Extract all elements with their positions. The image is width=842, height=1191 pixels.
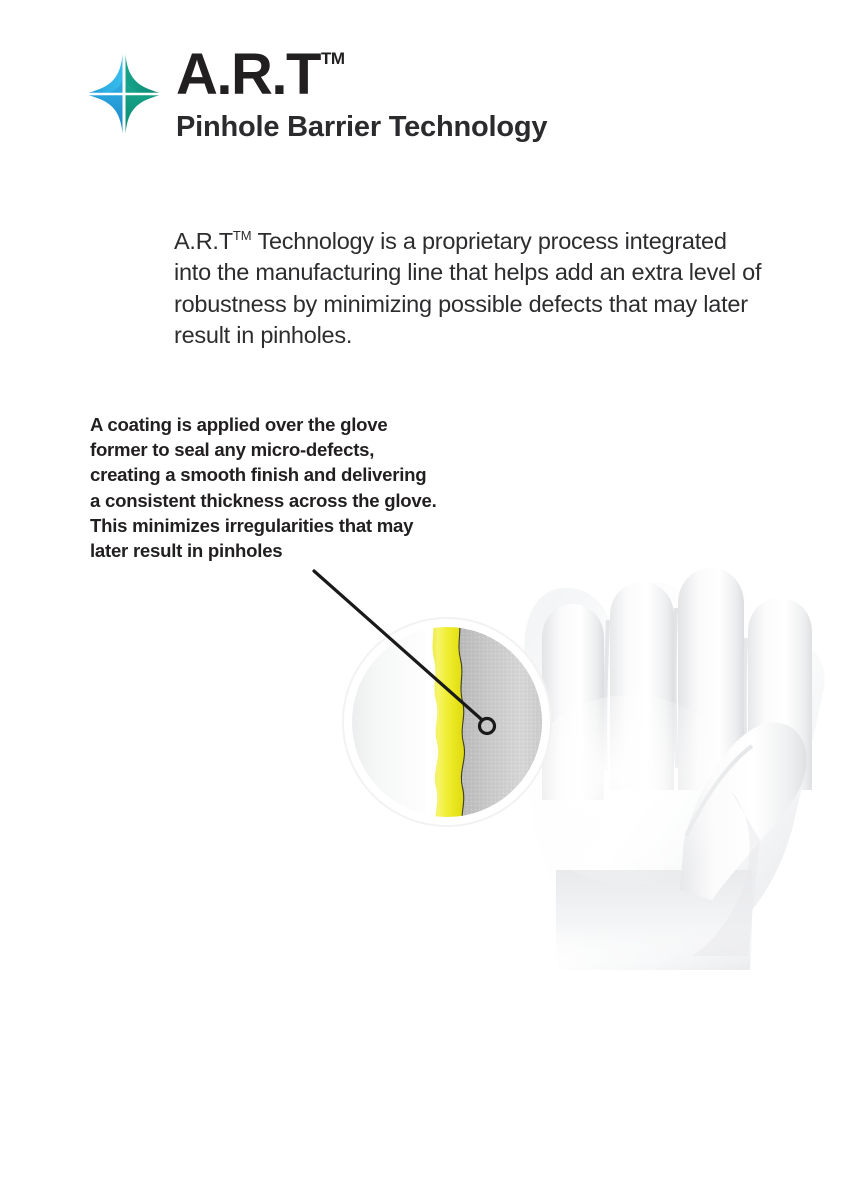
leader-line-stroke	[314, 571, 481, 719]
intro-body-text: Technology is a proprietary process inte…	[174, 228, 761, 349]
four-point-star-logo-icon	[82, 52, 166, 136]
brand-name: A.R.T	[176, 46, 320, 104]
intro-paragraph: A.R.TTM Technology is a proprietary proc…	[174, 220, 764, 352]
circle-endpoint-marker-icon	[480, 719, 495, 734]
brand-wordmark: A.R.TTM	[176, 46, 344, 108]
page-root: A.R.TTM Pinhole Barrier Technology A.R.T…	[0, 0, 842, 1191]
brand-trademark-symbol: TM	[321, 50, 345, 67]
intro-trademark-symbol: TM	[233, 228, 252, 243]
callout-text: A coating is applied over the glove form…	[90, 412, 490, 563]
brand-header: A.R.TTM Pinhole Barrier Technology	[82, 44, 722, 159]
intro-lead-prefix: A.R.T	[174, 228, 233, 254]
callout-leader-line	[300, 555, 510, 745]
brand-tagline: Pinhole Barrier Technology	[176, 108, 547, 146]
